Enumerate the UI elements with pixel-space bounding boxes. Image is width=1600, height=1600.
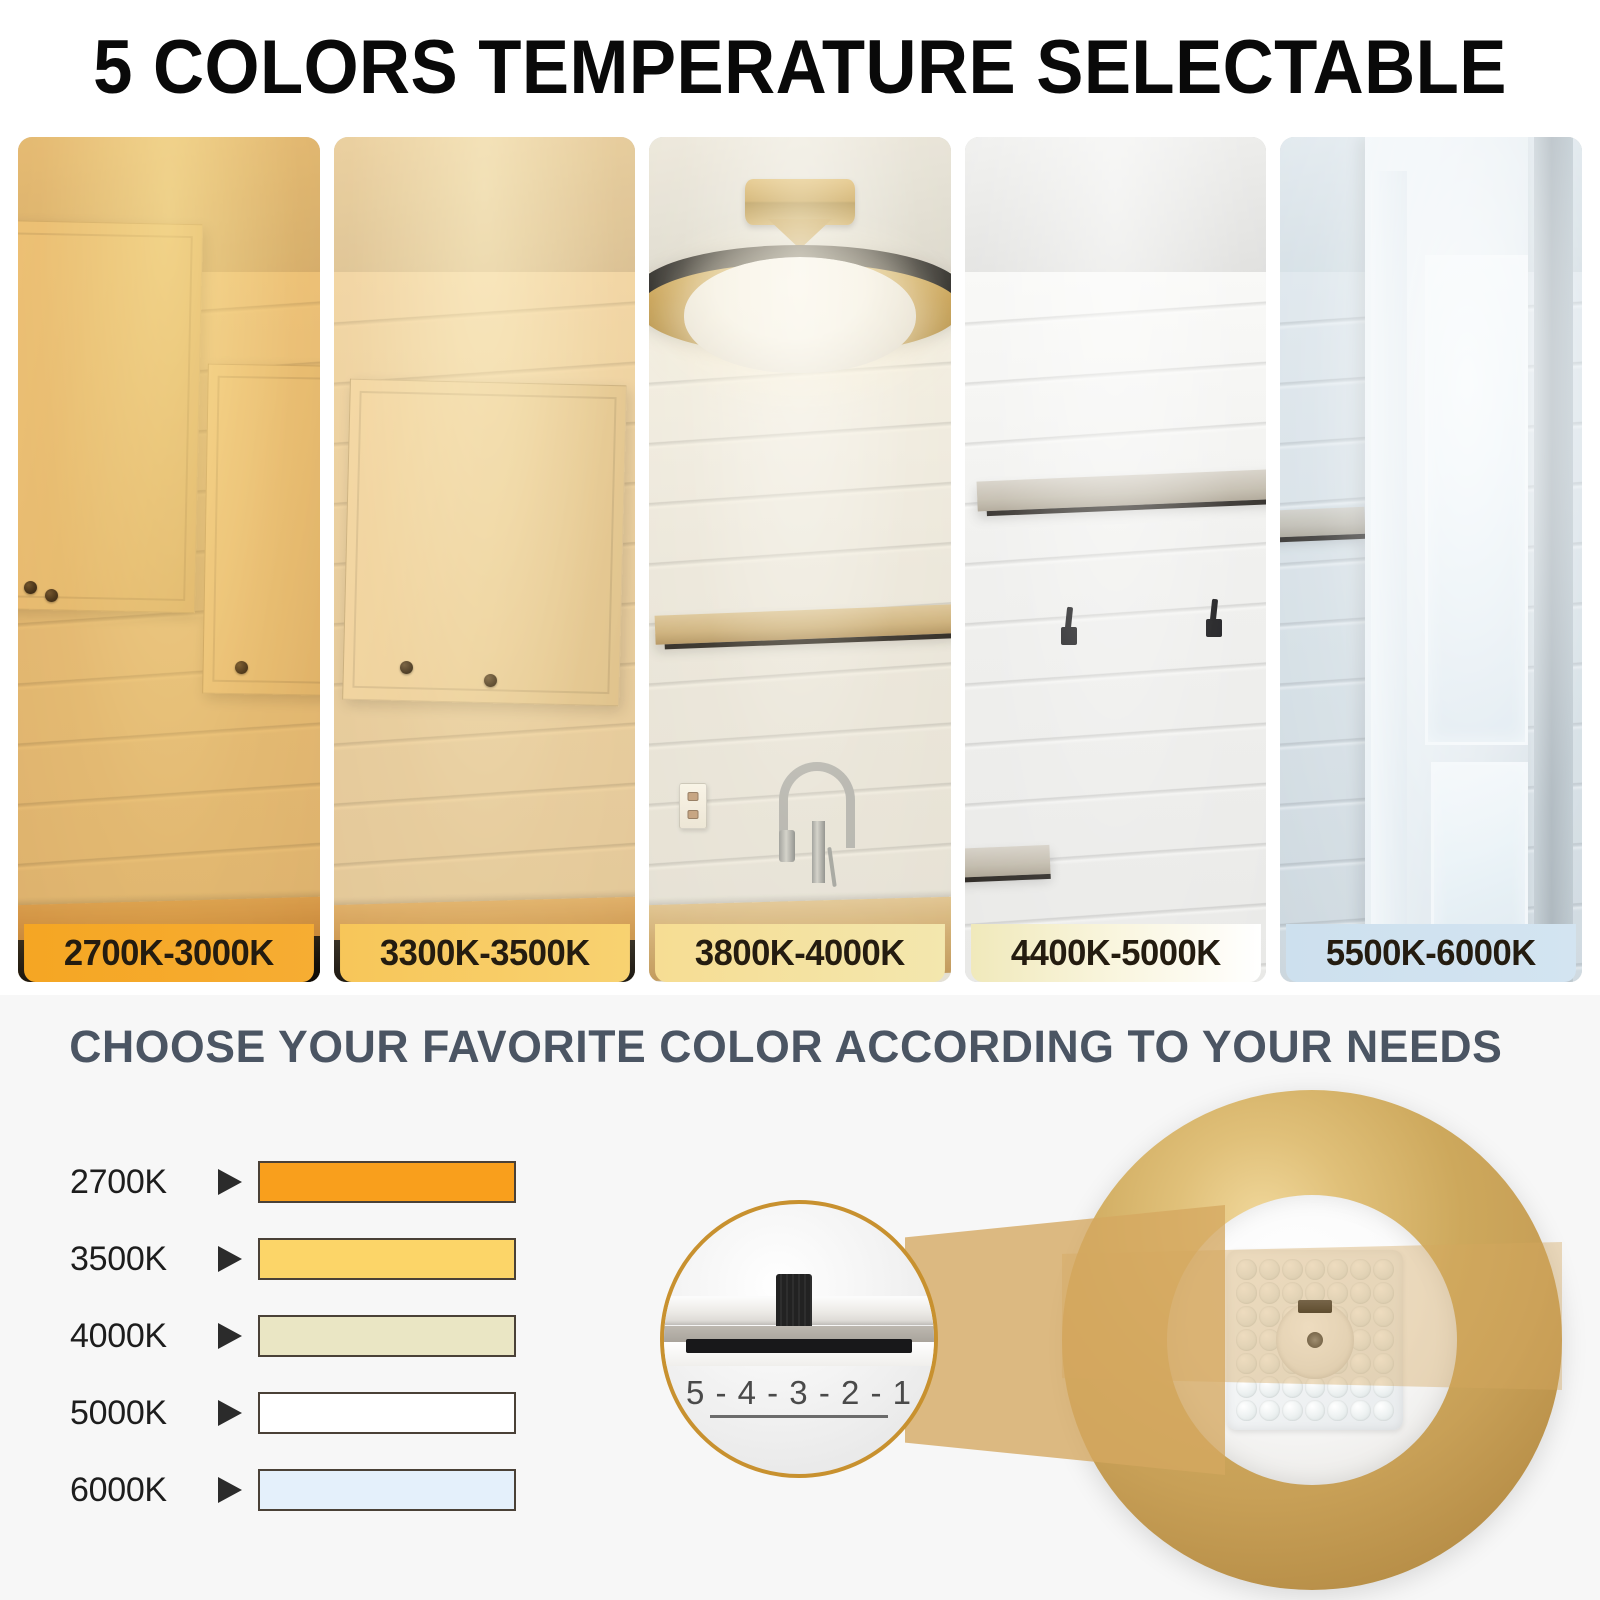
swatch-row-6000k[interactable]: 6000K <box>70 1461 550 1519</box>
swatch-color-bar <box>258 1392 516 1434</box>
panel-5500k[interactable]: 5500K-6000K <box>1280 137 1582 982</box>
panel-label-text: 5500K-6000K <box>1326 932 1536 974</box>
swatch-color-bar <box>258 1161 516 1203</box>
color-temperature-showcase: 5 COLORS TEMPERATURE SELECTABLE <box>0 0 1600 995</box>
swatch-label: 5000K <box>70 1394 202 1433</box>
panel-label-text: 3800K-4000K <box>695 932 905 974</box>
swatch-row-4000k[interactable]: 4000K <box>70 1307 550 1365</box>
panel-label-3300k: 3300K-3500K <box>340 924 630 982</box>
switch-scale-underline <box>710 1415 888 1418</box>
warm-glow-overlay <box>18 137 320 982</box>
section-subtitle: CHOOSE YOUR FAVORITE COLOR ACCORDING TO … <box>69 1021 1502 1073</box>
swatch-color-bar <box>258 1315 516 1357</box>
swatch-color-bar <box>258 1469 516 1511</box>
swatch-color-bar <box>258 1238 516 1280</box>
daylight-glow-overlay <box>1280 137 1582 982</box>
play-arrow-icon <box>202 1244 258 1274</box>
scene-laundry-soft-warm <box>334 137 636 982</box>
magnifier-beam <box>905 1205 1225 1475</box>
swatch-label: 3500K <box>70 1240 202 1279</box>
neutral-glow-overlay <box>649 137 951 982</box>
switch-base-bar <box>686 1339 913 1353</box>
panel-label-text: 2700K-3000K <box>64 932 274 974</box>
panel-label-2700k: 2700K-3000K <box>24 924 314 982</box>
infographic-page: 5 COLORS TEMPERATURE SELECTABLE <box>0 0 1600 1600</box>
play-arrow-icon <box>202 1167 258 1197</box>
swatch-label: 6000K <box>70 1471 202 1510</box>
panel-4400k[interactable]: 4400K-5000K <box>965 137 1267 982</box>
scene-sink-neutral <box>649 137 951 982</box>
led-module <box>1227 1250 1403 1430</box>
panel-label-4400k: 4400K-5000K <box>971 924 1261 982</box>
swatch-row-5000k[interactable]: 5000K <box>70 1384 550 1442</box>
switch-detail-callout: 5 - 4 - 3 - 2 - 1 <box>660 1200 938 1478</box>
page-title: 5 COLORS TEMPERATURE SELECTABLE <box>56 24 1544 111</box>
temperature-swatch-list: 2700K 3500K 4000K 5000K <box>70 1153 550 1538</box>
scene-window-daylight <box>1280 137 1582 982</box>
panel-2700k[interactable]: 2700K-3000K <box>18 137 320 982</box>
panel-strip: 2700K-3000K <box>18 137 1582 982</box>
play-arrow-icon <box>202 1475 258 1505</box>
scene-laundry-warm <box>18 137 320 982</box>
panel-label-3800k: 3800K-4000K <box>655 924 945 982</box>
swatch-label: 2700K <box>70 1163 202 1202</box>
swatch-row-2700k[interactable]: 2700K <box>70 1153 550 1211</box>
swatch-row-3500k[interactable]: 3500K <box>70 1230 550 1288</box>
swatch-label: 4000K <box>70 1317 202 1356</box>
panel-3800k[interactable]: 3800K-4000K <box>649 137 951 982</box>
panel-3300k[interactable]: 3300K-3500K <box>334 137 636 982</box>
panel-label-5500k: 5500K-6000K <box>1286 924 1576 982</box>
soft-warm-glow-overlay <box>334 137 636 982</box>
panel-label-text: 3300K-3500K <box>379 932 589 974</box>
wire-connector <box>1298 1300 1332 1313</box>
play-arrow-icon <box>202 1398 258 1428</box>
play-arrow-icon <box>202 1321 258 1351</box>
switch-scale-labels: 5 - 4 - 3 - 2 - 1 <box>664 1374 934 1412</box>
scene-shelf-hooks-cool <box>965 137 1267 982</box>
panel-label-text: 4400K-5000K <box>1011 932 1221 974</box>
cool-glow-overlay <box>965 137 1267 982</box>
switch-toggle-knob[interactable] <box>776 1274 812 1326</box>
